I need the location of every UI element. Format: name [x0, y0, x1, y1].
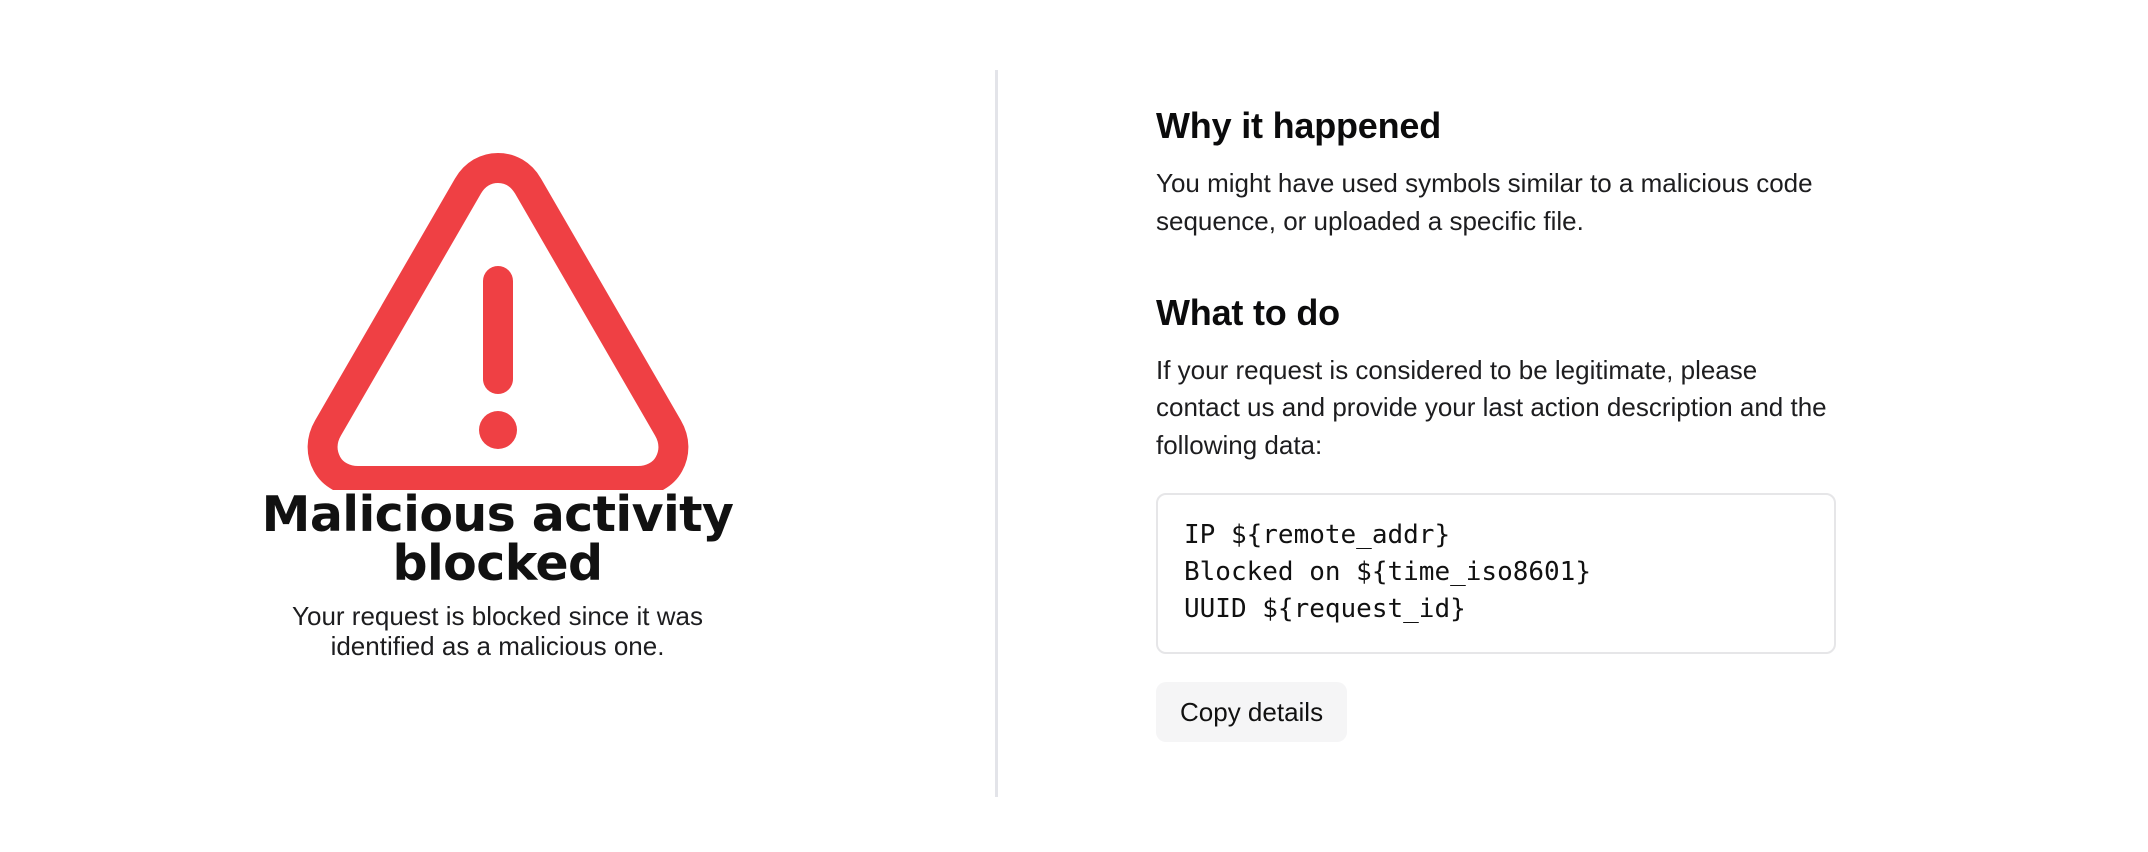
request-details-box: IP ${remote_addr} Blocked on ${time_iso8… [1156, 493, 1836, 654]
blocked-page: Malicious activity blocked Your request … [0, 0, 2148, 852]
detail-line-blocked-on: Blocked on ${time_iso8601} [1184, 554, 1808, 591]
page-title: Malicious activity blocked [78, 490, 918, 588]
page-subtitle: Your request is blocked since it was ide… [263, 602, 733, 662]
why-it-happened-body: You might have used symbols similar to a… [1156, 165, 1846, 240]
detail-line-ip: IP ${remote_addr} [1184, 517, 1808, 554]
vertical-divider [995, 70, 998, 797]
what-to-do-body: If your request is considered to be legi… [1156, 352, 1846, 465]
warning-triangle-icon [298, 138, 698, 490]
left-panel: Malicious activity blocked Your request … [0, 0, 995, 852]
right-panel: Why it happened You might have used symb… [1156, 0, 1916, 852]
why-it-happened-heading: Why it happened [1156, 104, 1916, 147]
detail-line-uuid: UUID ${request_id} [1184, 591, 1808, 628]
copy-details-button[interactable]: Copy details [1156, 682, 1347, 743]
what-to-do-heading: What to do [1156, 291, 1916, 334]
